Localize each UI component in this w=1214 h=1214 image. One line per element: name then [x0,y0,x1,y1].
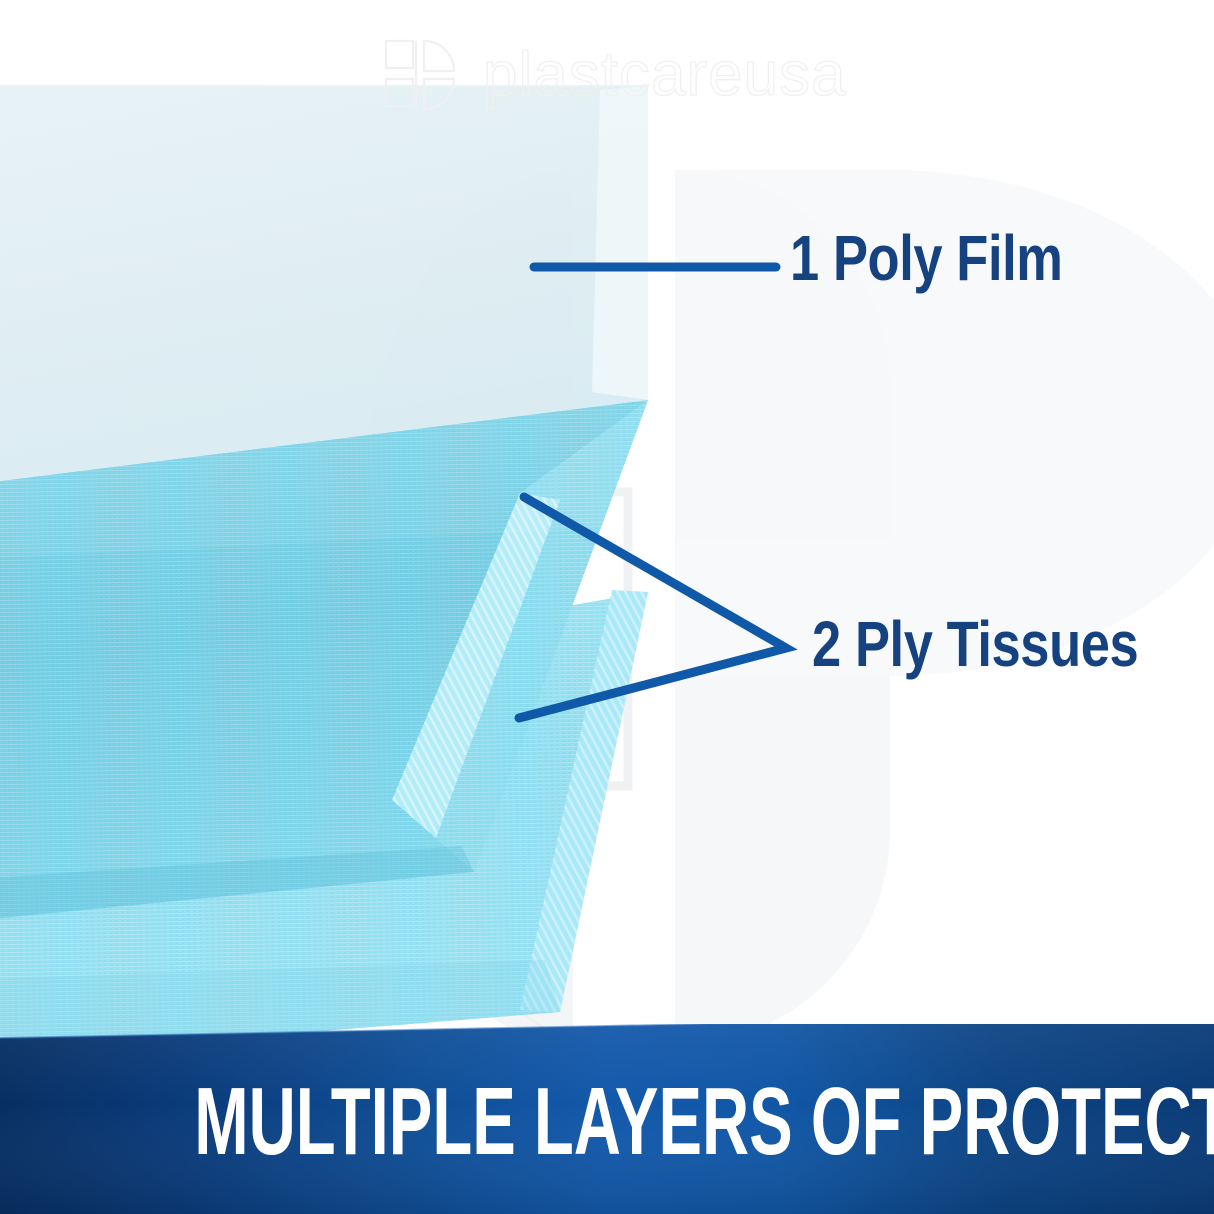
callout-label-poly-film: 1 Poly Film [790,226,1063,290]
plastcare-cross-icon [383,38,457,112]
banner-headline: MULTIPLE LAYERS OF PROTECTION [194,1074,1020,1170]
callout-label-ply-tissues: 2 Ply Tissues [812,612,1138,676]
brand-wordmark-text: plastcareusa [483,44,847,106]
brand-watermark: plastcareusa [383,38,847,112]
leader-line-ply-tissues [519,497,786,718]
bottom-banner: MULTIPLE LAYERS OF PROTECTION [0,1024,1214,1214]
diagram-canvas: 1 Poly Film 2 Ply Tissues plastcareusa [0,0,1214,1214]
